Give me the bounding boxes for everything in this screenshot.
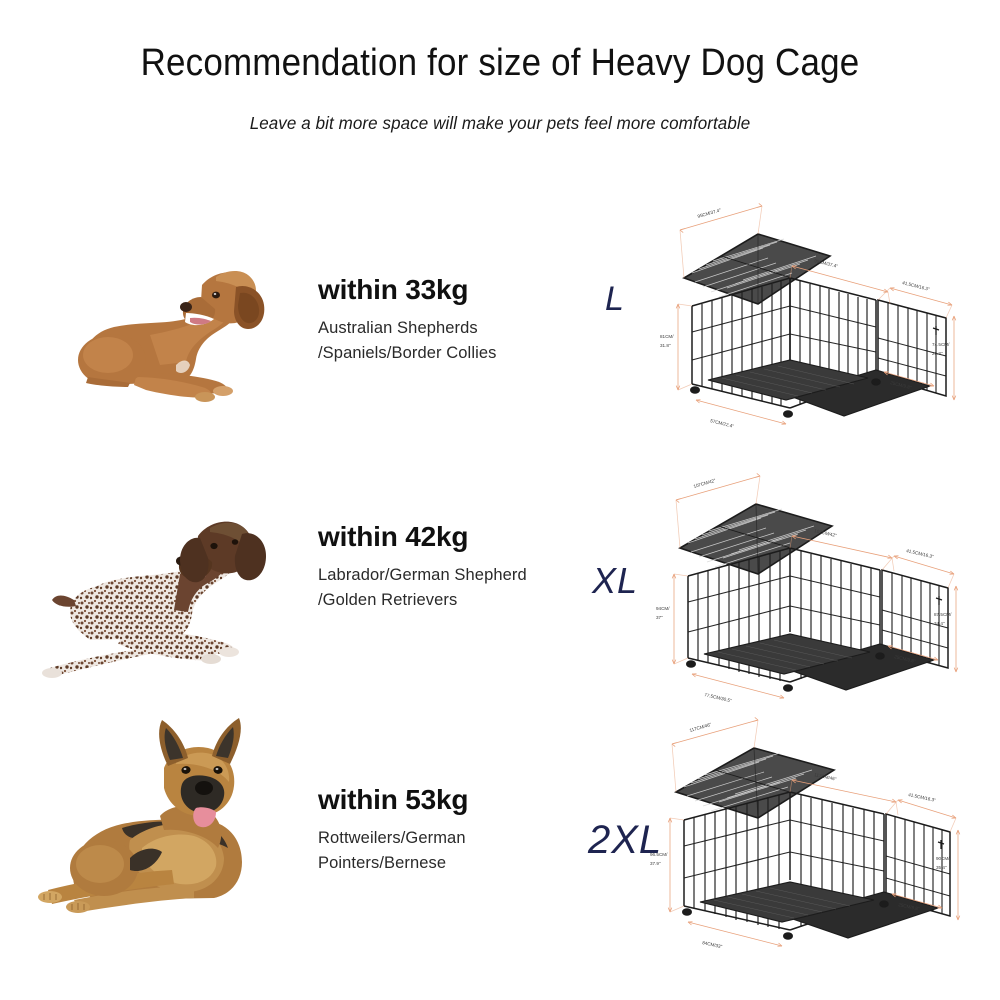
- dim-right-label-line2: 35.4": [936, 865, 947, 870]
- dim-bottom-label: 84CM/33": [702, 940, 723, 949]
- breeds-line-2: /Spaniels/Border Collies: [318, 341, 497, 367]
- breeds-line-1: Rottweilers/German: [318, 826, 468, 852]
- size-text-block: within 42kg Labrador/German Shepherd /Go…: [318, 522, 527, 614]
- infographic-page: Recommendation for size of Heavy Dog Cag…: [0, 0, 1000, 1000]
- dim-length-label: 107CM/42": [814, 528, 838, 538]
- size-row: within 42kg Labrador/German Shepherd /Go…: [0, 480, 1000, 720]
- breeds-line-1: Australian Shepherds: [318, 316, 497, 342]
- dim-bottom-label: 57CM/22.4": [710, 418, 735, 429]
- breeds-label: Labrador/German Shepherd /Golden Retriev…: [318, 563, 527, 614]
- cage-diagram-xl: 107CM/42" 107CM/42" 41.5CM/16.3" 94CM/ 3…: [662, 472, 962, 702]
- dim-depth-label: 41.5CM/16.3": [902, 280, 931, 292]
- dog-photo-german-shepherd: [18, 708, 308, 918]
- dim-length-label: 95CM/37.4": [814, 258, 839, 269]
- page-title: Recommendation for size of Heavy Dog Cag…: [40, 42, 960, 85]
- dim-right-label-line2: 29.3": [932, 351, 943, 356]
- dim-height-label-line1: 81CM/: [660, 334, 674, 339]
- dim-depth-label: 41.5CM/16.3": [908, 792, 937, 803]
- dim-height-label-line2: 37.9": [650, 861, 661, 866]
- breeds-label: Australian Shepherds /Spaniels/Border Co…: [318, 316, 497, 367]
- german-shepherd-dog-icon: [18, 708, 308, 918]
- cage-illustration-icon: 117CM/46" 117CM/46" 41.5CM/16.3" 96.5CM/…: [662, 718, 962, 948]
- weight-label: within 42kg: [318, 522, 527, 553]
- dog-photo-pointer: [30, 480, 300, 700]
- dim-height-label-line1: 94CM/: [656, 606, 670, 611]
- dim-lid-label: 95CM/37.4": [697, 207, 722, 219]
- page-subtitle: Leave a bit more space will make your pe…: [15, 113, 985, 134]
- dim-height-label-line1: 96.5CM/: [650, 852, 668, 857]
- dim-right-label-line1: 74.5CM/: [932, 342, 950, 347]
- dim-height-label-line2: 37": [656, 615, 663, 620]
- breeds-line-2: Pointers/Bernese: [318, 851, 468, 877]
- dim-right-label-line2: 34.4": [934, 621, 945, 626]
- size-row: within 33kg Australian Shepherds /Spanie…: [0, 225, 1000, 465]
- cage-illustration-icon: 95CM/37.4" 95CM/37.4" 41.5CM/16.3" 81CM/…: [662, 200, 962, 430]
- size-badge: XL: [592, 560, 638, 602]
- size-text-block: within 33kg Australian Shepherds /Spanie…: [318, 275, 497, 367]
- cage-diagram-l: 95CM/37.4" 95CM/37.4" 41.5CM/16.3" 81CM/…: [662, 200, 962, 430]
- weight-label: within 33kg: [318, 275, 497, 306]
- size-badge: L: [605, 280, 625, 319]
- size-row: within 53kg Rottweilers/German Pointers/…: [0, 700, 1000, 940]
- dim-depth-label: 41.5CM/16.3": [906, 548, 935, 559]
- size-text-block: within 53kg Rottweilers/German Pointers/…: [318, 785, 468, 877]
- dim-right-label-line1: 87.5CM/: [934, 612, 952, 617]
- weight-label: within 53kg: [318, 785, 468, 816]
- cage-diagram-2xl: 117CM/46" 117CM/46" 41.5CM/16.3" 96.5CM/…: [662, 718, 962, 948]
- dim-lid-label: 107CM/42": [693, 478, 717, 489]
- breeds-line-1: Labrador/German Shepherd: [318, 563, 527, 589]
- dim-height-label-line2: 31.8": [660, 343, 671, 348]
- dim-right-label-line1: 90CM/: [936, 856, 950, 861]
- breeds-label: Rottweilers/German Pointers/Bernese: [318, 826, 468, 877]
- cage-illustration-icon: 107CM/42" 107CM/42" 41.5CM/16.3" 94CM/ 3…: [662, 472, 962, 702]
- dog-photo-tan-hound: [30, 225, 300, 445]
- dim-lid-label: 117CM/46": [689, 722, 712, 733]
- breeds-line-2: /Golden Retrievers: [318, 588, 527, 614]
- tan-hound-dog-icon: [30, 225, 300, 445]
- german-shorthaired-pointer-dog-icon: [30, 480, 300, 700]
